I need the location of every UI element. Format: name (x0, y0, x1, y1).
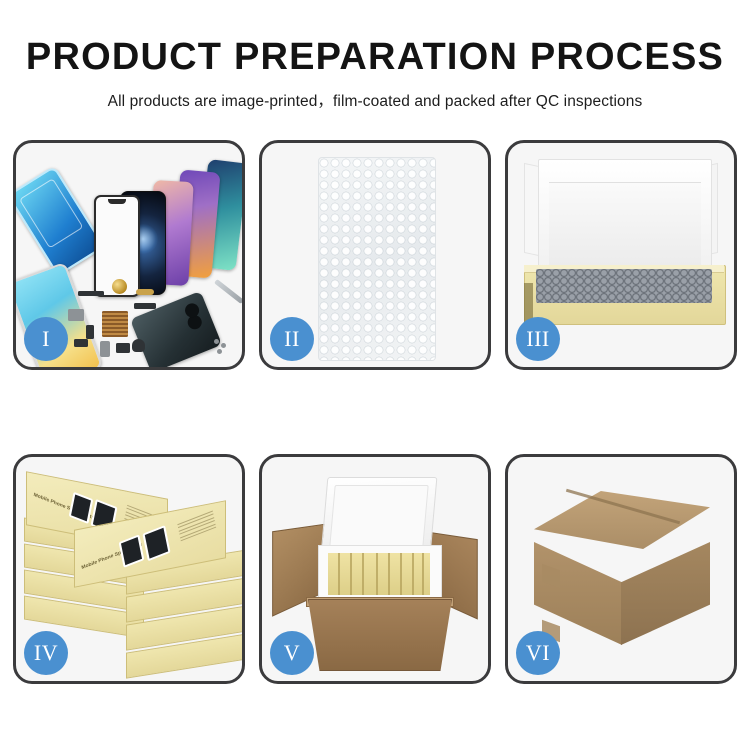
process-panel-6[interactable]: VI (505, 454, 737, 684)
panel-1-badge: I (24, 317, 68, 361)
box-phone-image-front-2 (142, 525, 170, 561)
logic-board-part-icon (102, 311, 128, 337)
bubble-wrapped-contents-icon (536, 269, 712, 303)
yellow-boxes-inside-icon (328, 553, 430, 595)
gold-coil-part-icon (112, 279, 127, 294)
page-subtitle: All products are image-printed，film-coat… (0, 89, 750, 111)
screen-protector-film-icon (13, 165, 105, 276)
foam-lid-icon (321, 477, 438, 555)
connector-part-icon (74, 339, 88, 347)
carton-body-icon (308, 599, 452, 671)
speaker-part-icon (78, 291, 104, 296)
panel-3-badge: III (516, 317, 560, 361)
flex-cable-part-icon (134, 303, 156, 309)
process-panel-3[interactable]: III (505, 140, 737, 370)
box-phone-image-front-1 (119, 534, 145, 568)
foam-liner-icon (538, 159, 712, 277)
page-title: PRODUCT PREPARATION PROCESS (0, 38, 750, 76)
process-panel-2[interactable]: II (259, 140, 491, 370)
bracket-part-icon (68, 309, 84, 321)
process-panel-grid: I II III (13, 140, 737, 684)
process-panel-4[interactable]: Mobile Phone Spare Parts Mobile Phone Sp… (13, 454, 245, 684)
button-part-icon (86, 325, 94, 339)
panel-5-badge: V (270, 631, 314, 675)
panel-2-badge: II (270, 317, 314, 361)
sim-tray-part-icon (100, 341, 110, 357)
process-panel-1[interactable]: I (13, 140, 245, 370)
box-spec-lines-front (177, 511, 216, 544)
taptic-engine-part-icon (132, 339, 145, 352)
panel-4-badge: IV (24, 631, 68, 675)
gold-flex-part-icon (136, 289, 154, 295)
screwdriver-icon (214, 279, 244, 304)
carton-top-face-icon (534, 491, 710, 549)
page-header: PRODUCT PREPARATION PROCESS All products… (0, 0, 750, 111)
screws-icon (214, 339, 219, 344)
process-panel-5[interactable]: V (259, 454, 491, 684)
camera-module-part-icon (116, 343, 130, 353)
carton-side-face-icon (621, 533, 710, 645)
panel-6-badge: VI (516, 631, 560, 675)
bubble-wrap-bag-icon (318, 157, 436, 361)
